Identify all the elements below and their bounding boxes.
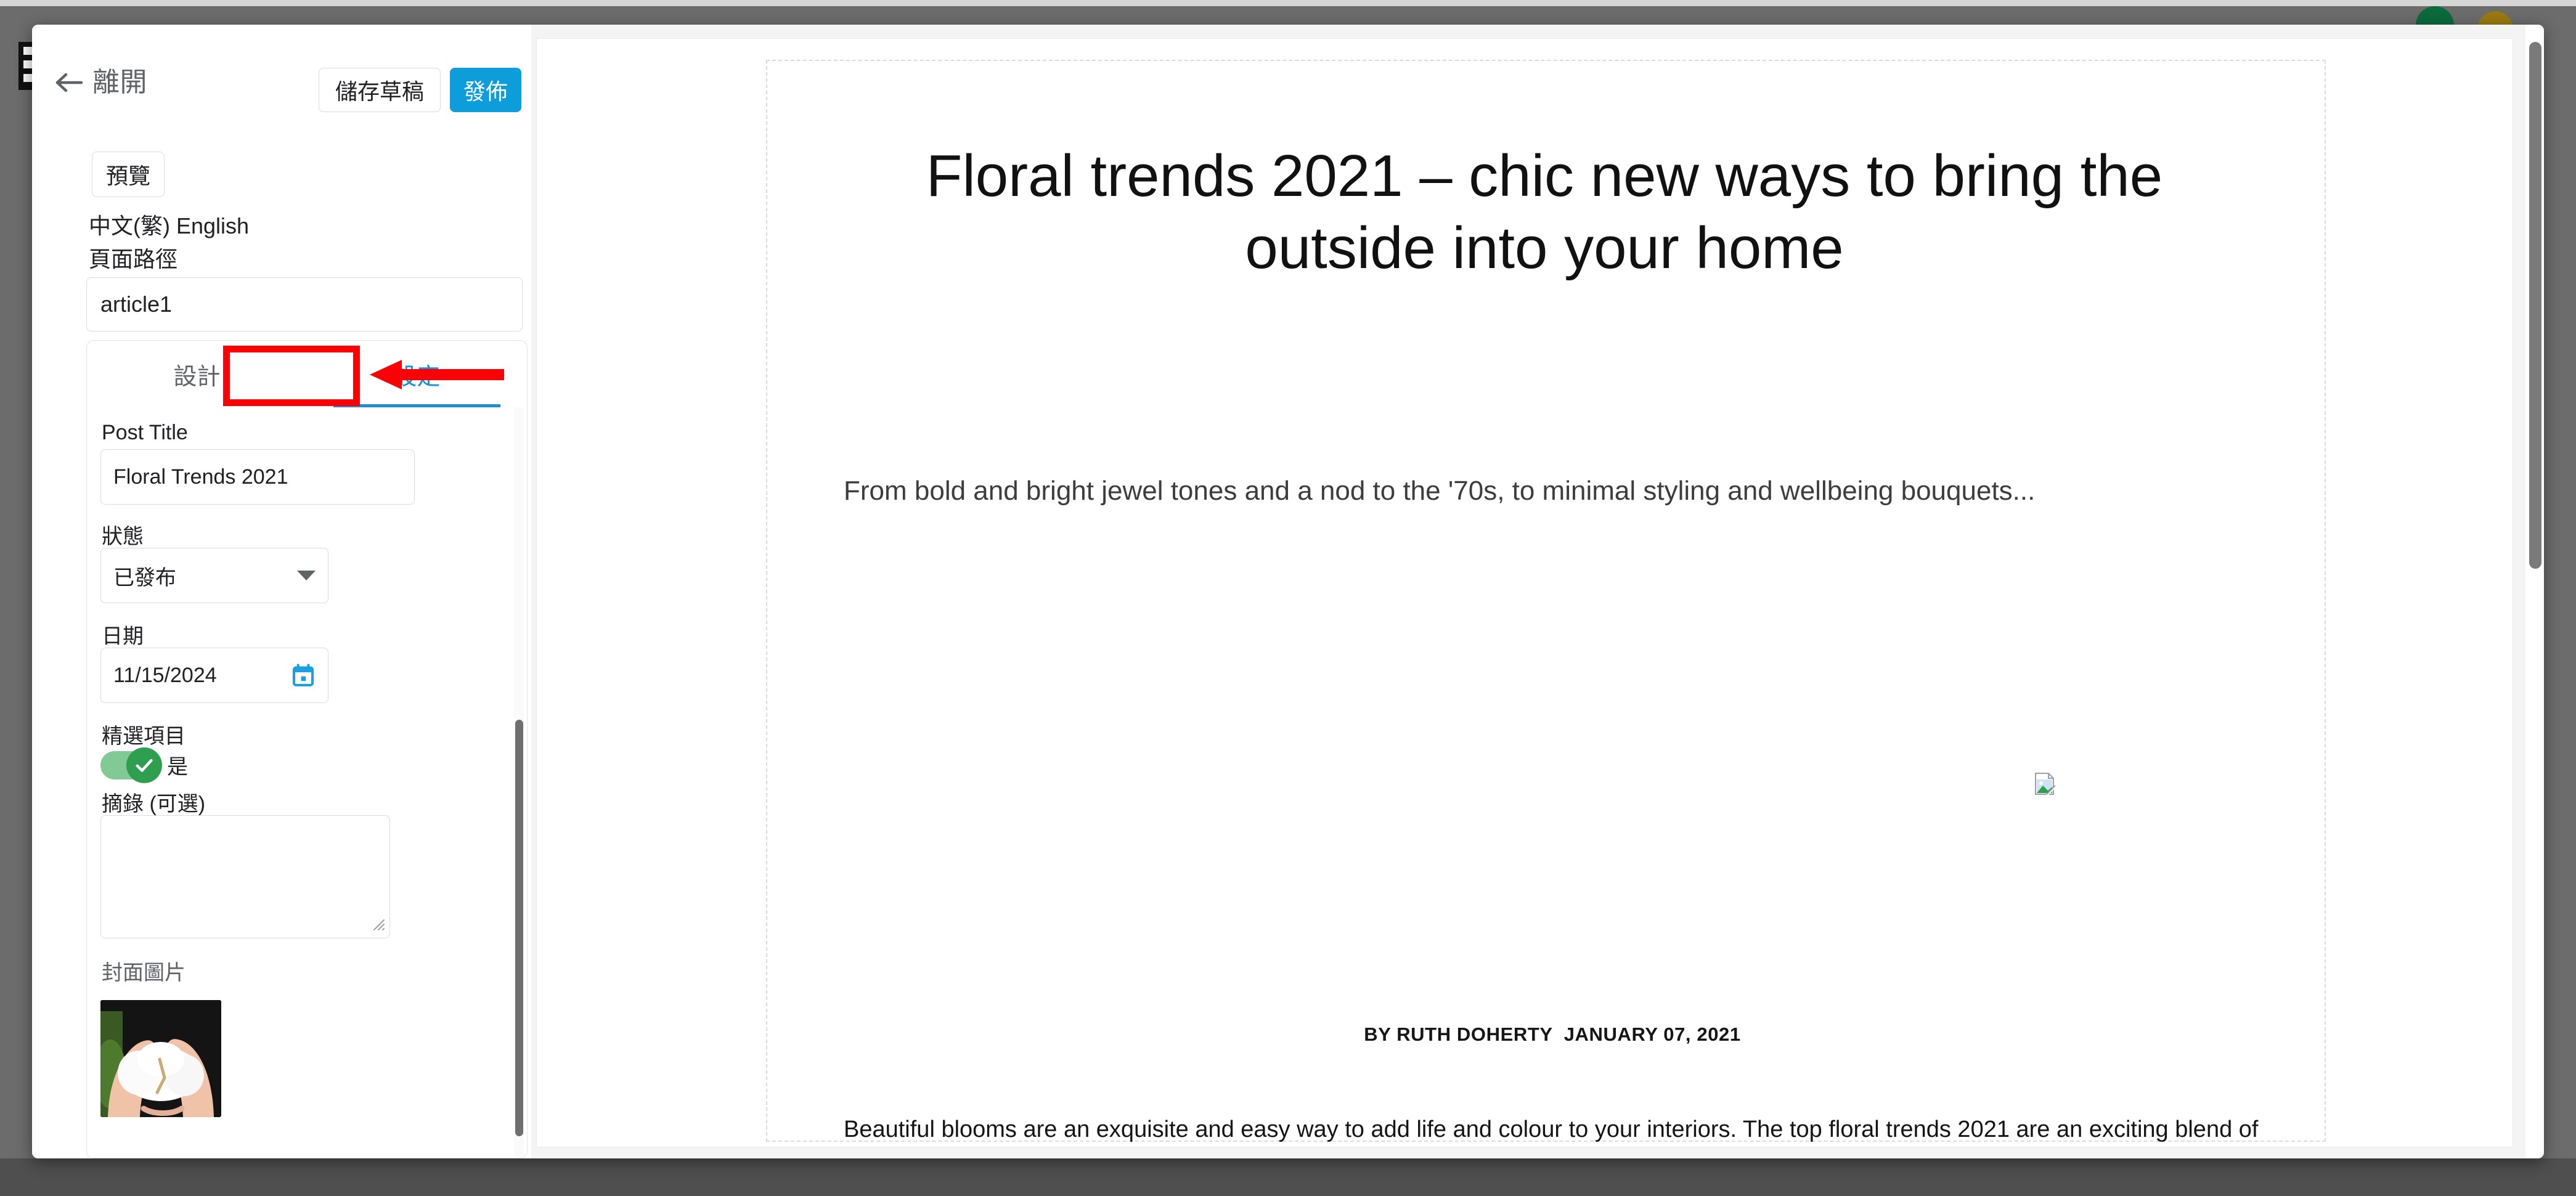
language-option-zh[interactable]: 中文(繁) (89, 213, 170, 238)
post-title-label: Post Title (102, 421, 188, 445)
arrow-left-icon (54, 70, 84, 95)
status-label: 狀態 (102, 519, 144, 550)
featured-toggle-row: 是 (100, 750, 188, 780)
back-button-label: 離開 (92, 69, 147, 96)
featured-toggle-state-label: 是 (167, 750, 188, 780)
settings-card: 設計 設定 Post Title 狀態 已發布 日期 11/15/2024 (86, 340, 528, 1158)
status-select[interactable]: 已發布 (100, 548, 328, 603)
preview-pane: Floral trends 2021 – chic new ways to br… (531, 25, 2544, 1158)
tab-design[interactable]: 設計 (87, 341, 307, 407)
desktop-top-strip (0, 0, 2576, 6)
settings-scrollbar-thumb[interactable] (515, 720, 523, 1136)
article-byline: BY RUTH DOHERTYJANUARY 07, 2021 (844, 1023, 2261, 1046)
editor-header-toolbar: 離開 儲存草稿 發佈 (32, 25, 531, 105)
save-draft-button[interactable]: 儲存草稿 (319, 68, 441, 112)
desktop-bottom-strip (0, 1158, 2576, 1196)
cover-image-thumbnail[interactable] (100, 1000, 221, 1117)
date-field[interactable]: 11/15/2024 (100, 648, 328, 703)
date-field-value: 11/15/2024 (113, 664, 291, 688)
back-button[interactable]: 離開 (54, 69, 147, 96)
main-scrollbar-thumb[interactable] (2529, 42, 2541, 569)
article-title: Floral trends 2021 – chic new ways to br… (833, 140, 2256, 284)
article-body-paragraph: Beautiful blooms are an exquisite and ea… (844, 1111, 2261, 1147)
language-switcher: 中文(繁) English (89, 208, 249, 240)
byline-author: BY RUTH DOHERTY (1364, 1023, 1552, 1045)
featured-label: 精選項目 (102, 719, 185, 749)
article-standfirst: From bold and bright jewel tones and a n… (844, 471, 2224, 511)
page-path-label: 頁面路徑 (89, 242, 177, 274)
language-option-en[interactable]: English (176, 213, 249, 238)
excerpt-textarea[interactable] (100, 815, 390, 938)
broken-image-icon (2033, 772, 2056, 795)
settings-form-scroll-area: Post Title 狀態 已發布 日期 11/15/2024 (87, 407, 527, 1158)
preview-button[interactable]: 預覽 (92, 152, 165, 197)
tab-settings[interactable]: 設定 (307, 341, 527, 407)
publish-button[interactable]: 發佈 (450, 68, 521, 112)
cover-image-label: 封面圖片 (102, 956, 185, 986)
editor-tabbar: 設計 設定 (87, 341, 527, 407)
byline-date: JANUARY 07, 2021 (1564, 1023, 1741, 1045)
calendar-icon[interactable] (291, 663, 316, 688)
toggle-check-icon (126, 747, 162, 783)
excerpt-label: 摘錄 (可選) (102, 787, 205, 817)
editor-sidebar-panel: 離開 儲存草稿 發佈 預覽 中文(繁) English 頁面路徑 設計 設定 P… (32, 25, 531, 1158)
status-select-value: 已發布 (113, 561, 297, 591)
page-path-input[interactable] (86, 277, 523, 332)
app-window: 離開 儲存草稿 發佈 預覽 中文(繁) English 頁面路徑 設計 設定 P… (32, 25, 2544, 1158)
post-title-input[interactable] (100, 449, 415, 505)
preview-canvas: Floral trends 2021 – chic new ways to br… (536, 38, 2513, 1147)
featured-toggle[interactable] (100, 751, 158, 779)
chevron-down-icon (297, 571, 316, 580)
date-label: 日期 (102, 619, 144, 649)
